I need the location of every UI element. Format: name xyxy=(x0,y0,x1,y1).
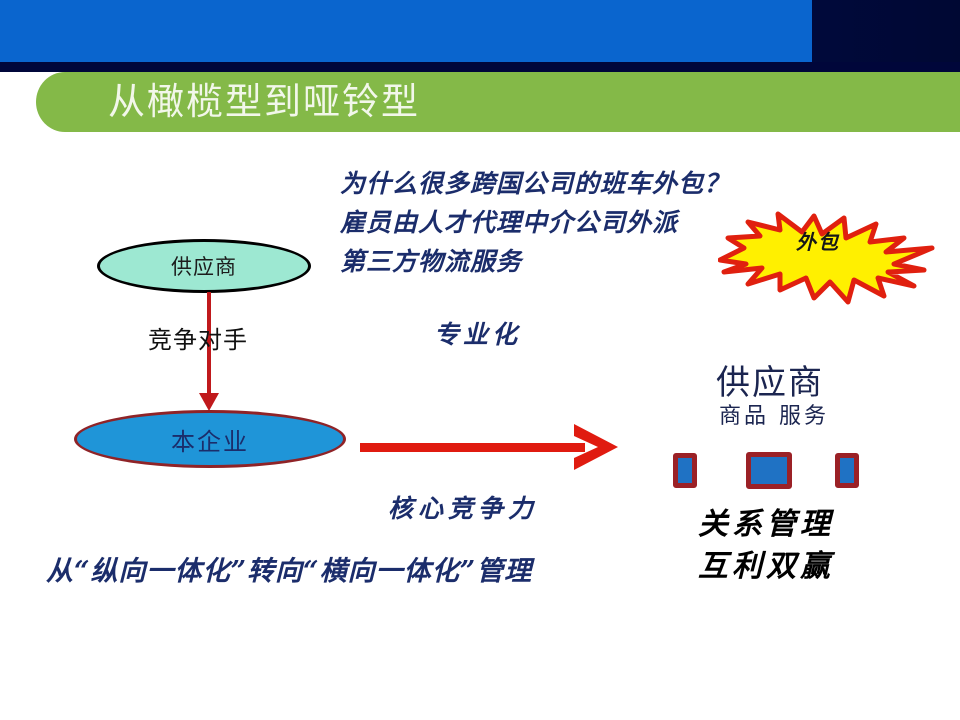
slide-canvas: 从橄榄型到哑铃型 为什么很多跨国公司的班车外包？ 雇员由人才代理中介公司外派 第… xyxy=(0,0,960,720)
mutual-benefit-label: 互利双赢 xyxy=(698,541,834,585)
node-supplier-label: 供应商 xyxy=(171,251,237,281)
header-blue-block xyxy=(0,0,812,62)
node-company-ellipse: 本企业 xyxy=(74,410,346,468)
node-company-label: 本企业 xyxy=(171,422,249,457)
vertical-arrow-head xyxy=(199,393,219,411)
specialization-label: 专业化 xyxy=(434,315,521,351)
starburst-label: 外包 xyxy=(796,226,840,255)
core-competence-label: 核心竞争力 xyxy=(388,489,538,525)
header-dark-divider xyxy=(0,62,960,72)
horizontal-arrow-head xyxy=(572,424,620,470)
question-line-2: 雇员由人才代理中介公司外派 xyxy=(340,203,678,239)
node-rect-center xyxy=(746,452,792,489)
question-line-3: 第三方物流服务 xyxy=(340,242,522,278)
node-rect-right xyxy=(835,453,859,488)
node-rect-left xyxy=(673,453,697,488)
page-title: 从橄榄型到哑铃型 xyxy=(108,74,808,130)
starburst-shape xyxy=(718,208,938,306)
bottom-statement: 从“纵向一体化”转向“横向一体化”管理 xyxy=(46,549,532,588)
question-line-1: 为什么很多跨国公司的班车外包？ xyxy=(340,164,730,200)
vertical-arrow-label: 竞争对手 xyxy=(148,320,248,355)
node-supplier-ellipse: 供应商 xyxy=(97,239,311,293)
relationship-management-label: 关系管理 xyxy=(698,499,834,543)
right-supplier-title: 供应商 xyxy=(716,355,824,404)
right-supplier-subtitle: 商品 服务 xyxy=(719,398,829,430)
horizontal-arrow-shaft xyxy=(360,443,585,452)
